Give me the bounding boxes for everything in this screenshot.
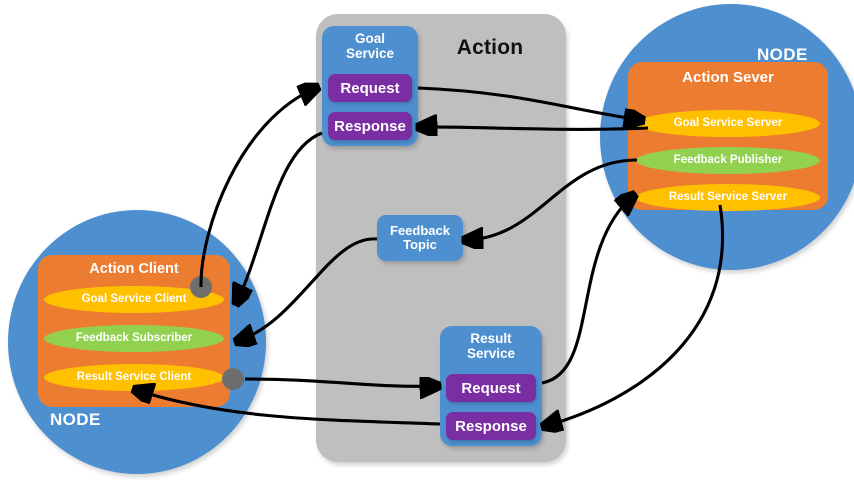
- result-service-request[interactable]: Request: [446, 374, 536, 402]
- result-service-response[interactable]: Response: [446, 412, 536, 440]
- goal-client-connector-dot: [190, 276, 212, 298]
- diagram-canvas: Action NODE Action Client Goal Service C…: [0, 0, 854, 480]
- goal-service-title: Goal Service: [322, 32, 418, 61]
- feedback-publisher-pill[interactable]: Feedback Publisher: [636, 147, 820, 174]
- result-service-client-pill[interactable]: Result Service Client: [44, 364, 224, 391]
- goal-service-response[interactable]: Response: [328, 112, 412, 140]
- feedback-subscriber-pill[interactable]: Feedback Subscriber: [44, 325, 224, 352]
- result-service-server-pill[interactable]: Result Service Server: [636, 184, 820, 211]
- arrow-goal-response-to-client: [237, 133, 322, 302]
- goal-service-box: Goal Service Request Response: [322, 26, 418, 146]
- feedback-topic-box[interactable]: Feedback Topic: [377, 215, 463, 261]
- goal-service-server-pill[interactable]: Goal Service Server: [636, 110, 820, 137]
- result-service-box: Result Service Request Response: [440, 326, 542, 446]
- goal-service-request[interactable]: Request: [328, 74, 412, 102]
- action-server-title: Action Sever: [628, 70, 828, 86]
- action-group-title: Action: [430, 36, 550, 60]
- result-client-connector-dot: [222, 368, 244, 390]
- client-node-label: NODE: [50, 410, 101, 430]
- action-server-box: Action Sever Goal Service Server Feedbac…: [628, 62, 828, 210]
- result-service-title: Result Service: [440, 332, 542, 361]
